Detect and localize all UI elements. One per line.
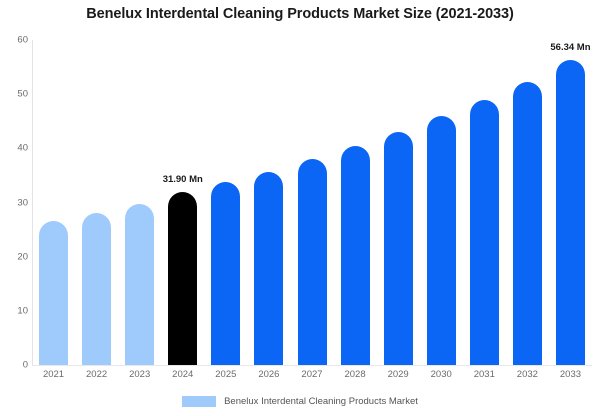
x-axis-tick-2029: 2029 (377, 368, 420, 382)
chart-title: Benelux Interdental Cleaning Products Ma… (0, 6, 600, 22)
bar-2027[interactable] (298, 159, 327, 365)
bar-slot-2025 (211, 40, 240, 365)
x-axis-tick-2023: 2023 (118, 368, 161, 382)
bar-2030[interactable] (427, 116, 456, 365)
bar-value-label-2024: 31.90 Mn (163, 174, 203, 185)
bar-2028[interactable] (341, 146, 370, 365)
x-axis-tick-2031: 2031 (463, 368, 506, 382)
bar-slot-2023 (125, 40, 154, 365)
bar-2025[interactable] (211, 182, 240, 365)
bar-slot-2030 (427, 40, 456, 365)
plot-area: 31.90 Mn56.34 Mn (32, 40, 592, 365)
y-axis-tick-0: 0 (0, 360, 28, 370)
x-axis-tick-2028: 2028 (334, 368, 377, 382)
y-axis-tick-10: 10 (0, 306, 28, 316)
y-axis-tick-40: 40 (0, 144, 28, 154)
bar-slot-2026 (254, 40, 283, 365)
bar-slot-2032 (513, 40, 542, 365)
bar-2033[interactable] (556, 60, 585, 365)
x-axis-labels: 2021202220232024202520262027202820292030… (32, 368, 592, 384)
y-axis-tick-20: 20 (0, 252, 28, 262)
legend-swatch-icon (182, 396, 216, 407)
y-axis-tick-50: 50 (0, 89, 28, 99)
x-axis-tick-2032: 2032 (506, 368, 549, 382)
y-axis-tick-60: 60 (0, 35, 28, 45)
bar-slot-2021 (39, 40, 68, 365)
bar-2022[interactable] (82, 213, 111, 365)
bar-2024[interactable] (168, 192, 197, 365)
bar-chart: Benelux Interdental Cleaning Products Ma… (0, 0, 600, 416)
x-axis-tick-2021: 2021 (32, 368, 75, 382)
x-axis-tick-2030: 2030 (420, 368, 463, 382)
bar-slot-2031 (470, 40, 499, 365)
bar-slot-2033: 56.34 Mn (556, 40, 585, 365)
x-axis-tick-2026: 2026 (247, 368, 290, 382)
x-axis-tick-2024: 2024 (161, 368, 204, 382)
bar-2023[interactable] (125, 204, 154, 365)
bar-2029[interactable] (384, 132, 413, 365)
bar-value-label-2033: 56.34 Mn (550, 42, 590, 53)
chart-legend: Benelux Interdental Cleaning Products Ma… (0, 396, 600, 407)
x-axis-tick-2022: 2022 (75, 368, 118, 382)
y-axis-labels: 0102030405060 (0, 40, 28, 365)
x-axis-line (32, 365, 592, 366)
bar-slot-2024: 31.90 Mn (168, 40, 197, 365)
bar-2026[interactable] (254, 172, 283, 365)
bar-slot-2028 (341, 40, 370, 365)
bar-2021[interactable] (39, 221, 68, 365)
bar-2032[interactable] (513, 82, 542, 365)
bar-2031[interactable] (470, 100, 499, 365)
bars-layer: 31.90 Mn56.34 Mn (32, 40, 592, 365)
bar-slot-2029 (384, 40, 413, 365)
bar-slot-2022 (82, 40, 111, 365)
y-axis-tick-30: 30 (0, 198, 28, 208)
x-axis-tick-2033: 2033 (549, 368, 592, 382)
legend-label: Benelux Interdental Cleaning Products Ma… (224, 396, 418, 407)
x-axis-tick-2027: 2027 (290, 368, 333, 382)
x-axis-tick-2025: 2025 (204, 368, 247, 382)
bar-slot-2027 (298, 40, 327, 365)
